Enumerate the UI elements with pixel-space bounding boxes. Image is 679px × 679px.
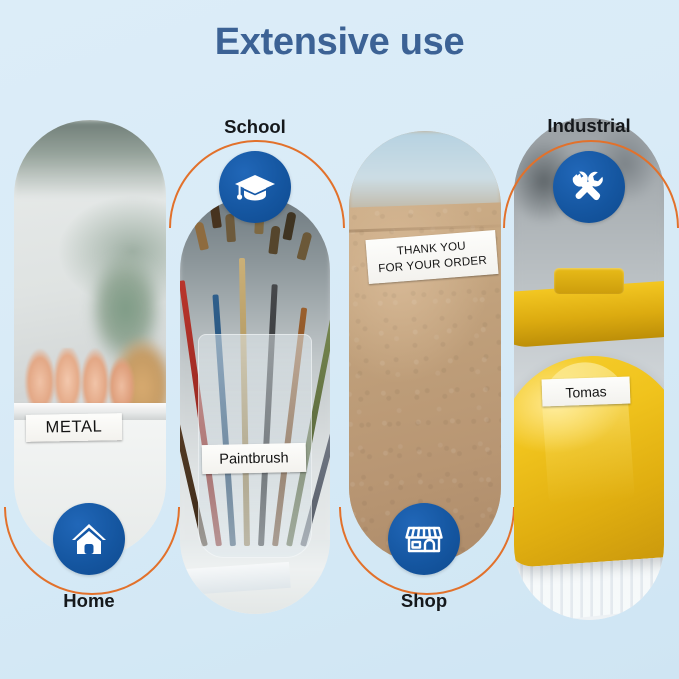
panel-home: METAL <box>14 120 166 558</box>
panel-caption-school: School <box>155 118 355 137</box>
school-photo <box>180 196 330 614</box>
tools-icon <box>567 165 611 209</box>
panel-shop: THANK YOU FOR YOUR ORDER <box>349 131 501 563</box>
home-photo-shadow <box>14 120 166 198</box>
home-photo <box>14 120 166 558</box>
page-title: Extensive use <box>0 22 679 64</box>
graduation-cap-icon <box>232 164 278 210</box>
paintbrush-label-sticker: Paintbrush <box>202 443 307 474</box>
shop-photo <box>349 131 501 563</box>
panel-caption-industrial: Industrial <box>489 117 679 136</box>
panel-caption-shop: Shop <box>324 592 524 611</box>
home-icon <box>67 517 111 561</box>
home-badge[interactable] <box>53 503 125 575</box>
metal-label-sticker: METAL <box>26 413 122 442</box>
school-badge[interactable] <box>219 151 291 223</box>
panel-school: Paintbrush <box>180 196 330 614</box>
industrial-badge[interactable] <box>553 151 625 223</box>
tomas-label-sticker: Tomas <box>542 376 631 406</box>
industrial-photo-hardhat-clip <box>554 268 624 294</box>
storefront-icon <box>402 517 446 561</box>
panel-caption-home: Home <box>0 592 189 611</box>
promo-graphic: Extensive use METAL Home <box>0 0 679 679</box>
shop-badge[interactable] <box>388 503 460 575</box>
